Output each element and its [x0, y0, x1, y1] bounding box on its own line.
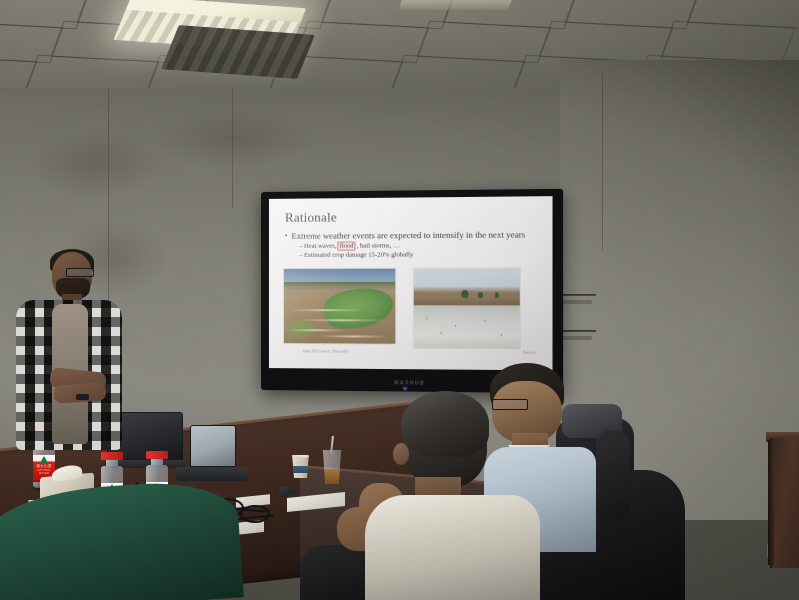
display-screen[interactable]: Rationale • Extreme weather events are e…: [269, 196, 553, 370]
slide-image-row: India 2023 (source: china daily): [283, 267, 542, 356]
slide-title: Rationale: [285, 208, 541, 226]
bullet-marker: –: [299, 243, 302, 250]
cable-coil: [240, 505, 270, 523]
flooded-field-photo: [413, 267, 521, 349]
highlighted-term-flood: flood: [337, 242, 355, 251]
bottle-cap: [146, 451, 168, 459]
photo-speck: [455, 325, 456, 327]
cup-rim: [291, 455, 310, 458]
photo-speck: [484, 320, 485, 322]
slide-bullet-level1: • Extreme weather events are expected to…: [285, 229, 541, 242]
glasses-icon: [66, 268, 94, 277]
photo-water-streak: [286, 329, 346, 331]
paper-cup[interactable]: [291, 455, 310, 478]
wood-cabinet: [770, 438, 799, 568]
wall-seam: [232, 88, 233, 208]
laptop-screen[interactable]: [190, 425, 236, 467]
flooded-field-photo-caption: Pakistan: [523, 351, 536, 355]
ceiling-light-secondary: [398, 0, 511, 10]
bullet-text-after: , hail storms, …: [357, 242, 400, 249]
photo-water-streak: [298, 319, 385, 321]
photo-fill: [414, 268, 520, 348]
photo-speck: [501, 334, 502, 336]
laptop-open-silver[interactable]: [190, 425, 248, 481]
display-brand-label: MAXHUB: [394, 380, 425, 386]
presenter: [14, 252, 124, 467]
audience-hair: [401, 391, 489, 457]
cabinet-edge: [768, 440, 774, 565]
presenter-arm: [53, 382, 106, 404]
photo-vehicle: [478, 292, 483, 298]
wall-seam: [602, 70, 603, 250]
photo-sky: [284, 269, 395, 282]
conference-room-photo: Rationale • Extreme weather events are e…: [0, 0, 799, 600]
bullet-marker: –: [299, 252, 302, 259]
audience-front: [385, 395, 555, 600]
audience-white-shirt: [365, 495, 540, 600]
photo-water-streak: [318, 335, 389, 337]
slide-bullet-level2-damage: – Estimated crop damage 15-20% globally: [299, 251, 541, 261]
audience-ear: [393, 443, 409, 465]
bullet-marker: •: [285, 231, 287, 242]
slide-content: Rationale • Extreme weather events are e…: [269, 196, 553, 370]
photo-fill: [284, 269, 395, 344]
bullet-text-before: Heat waves,: [304, 243, 336, 250]
wall-stain: [30, 128, 160, 198]
display-bezel: Rationale • Extreme weather events are e…: [269, 196, 553, 370]
computer-mouse[interactable]: [279, 486, 293, 495]
flood-aerial-photo-caption: India 2023 (source: china daily): [303, 349, 349, 353]
cup-band: [291, 466, 310, 473]
power-led-indicator: [404, 387, 407, 389]
photo-water-streak: [290, 309, 361, 311]
photo-vehicle: [495, 292, 499, 298]
laptop-keyboard[interactable]: [176, 467, 248, 481]
photo-speck: [441, 332, 442, 334]
ceiling-light-grille: [161, 25, 315, 79]
photo-vehicle: [461, 290, 468, 298]
wristwatch: [76, 394, 89, 400]
bullet-text: Extreme weather events are expected to i…: [291, 229, 525, 242]
photo-speck: [426, 317, 427, 319]
wall-stain: [150, 108, 320, 168]
flood-aerial-photo: [283, 268, 396, 345]
bullet-text: Estimated crop damage 15-20% globally: [304, 251, 413, 258]
